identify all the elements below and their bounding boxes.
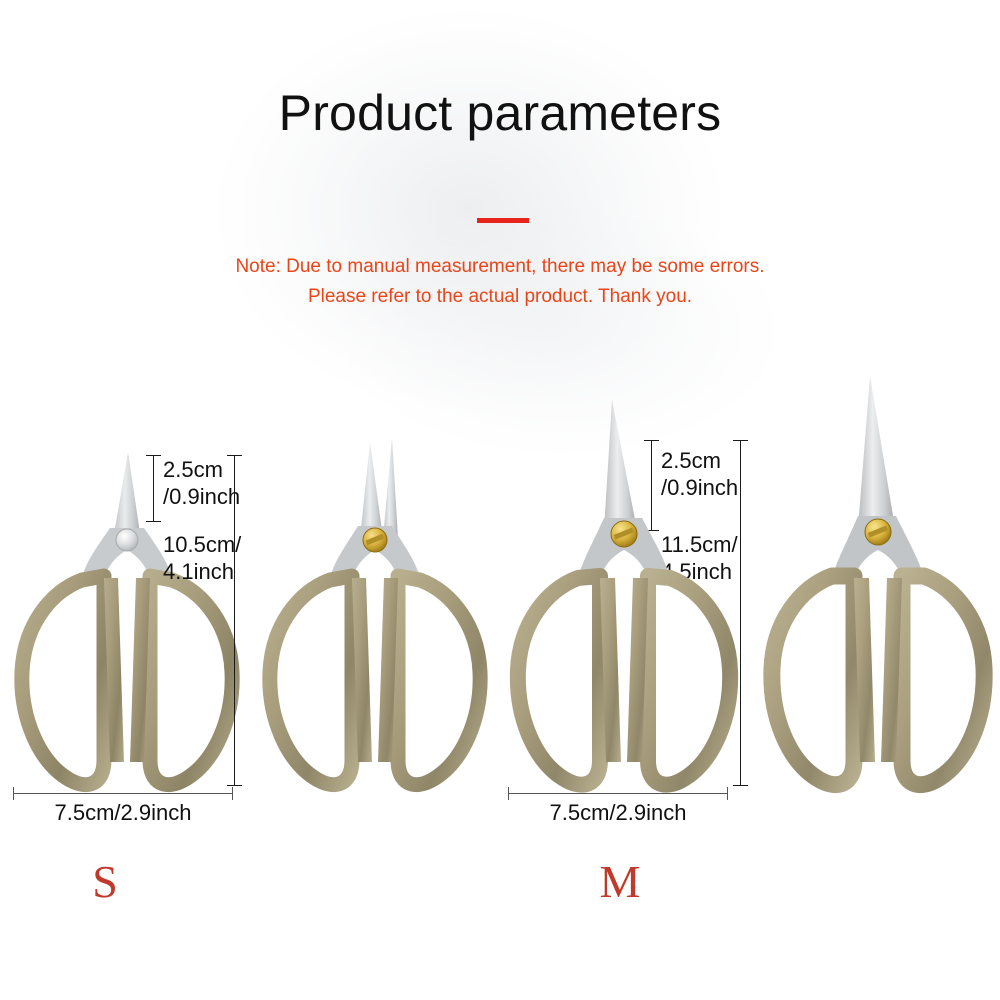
scissors-comparison-group: 2.5cm /0.9inch 10.5cm/ 4.1inch 7.5cm/2.9…	[0, 0, 1000, 1000]
width-label-s: 7.5cm/2.9inch	[13, 800, 233, 826]
dimension-tick-total-bottom-s	[227, 785, 242, 786]
scissors-illustration-m	[250, 0, 510, 820]
dimension-tick-blade-bottom-s	[146, 521, 161, 522]
size-letter-m: M	[570, 855, 670, 908]
dimension-tick-width-right-s	[232, 787, 233, 800]
dimension-line-width-s	[13, 793, 233, 794]
dimension-tick-blade-top-s	[146, 455, 161, 456]
scissors-illustration-xl	[740, 0, 1000, 820]
dimension-tick-width-left-s	[13, 787, 14, 800]
product-parameters-page: Product parameters Note: Due to manual m…	[0, 0, 1000, 1000]
scissors-illustration-s	[0, 0, 260, 820]
total-length-label-s: 10.5cm/ 4.1inch	[163, 531, 241, 585]
size-letter-s: S	[55, 855, 155, 908]
dimension-line-blade-s	[153, 455, 154, 521]
scissors-illustration-l	[500, 0, 760, 820]
dimension-tick-total-top-s	[227, 455, 242, 456]
dimension-line-total-s	[234, 455, 235, 785]
blade-length-label-s: 2.5cm /0.9inch	[163, 456, 240, 510]
